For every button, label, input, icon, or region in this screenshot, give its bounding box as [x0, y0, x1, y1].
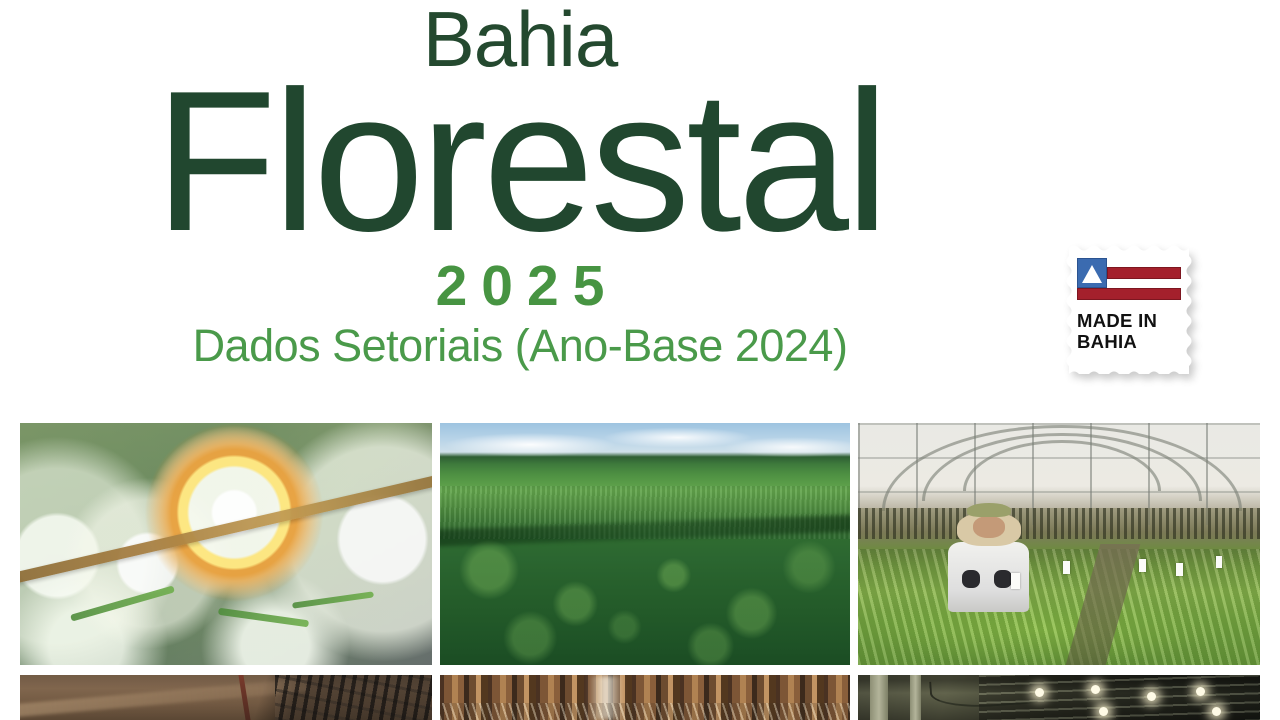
worker-glove [962, 570, 981, 587]
photo-earthworks [20, 675, 432, 720]
stamp-text: MADE IN BAHIA [1077, 311, 1183, 352]
ceiling-light [1091, 685, 1100, 694]
cover-header: Bahia Florestal 2025 Dados Setoriais (An… [0, 0, 1280, 423]
photo-blossoms [20, 423, 432, 665]
photo-industrial-interior [858, 675, 1260, 720]
title-block: Bahia Florestal 2025 Dados Setoriais (An… [0, 0, 1040, 368]
seedling-beds [858, 549, 1260, 665]
forest-floor [440, 703, 850, 720]
stamp-content: MADE IN BAHIA [1077, 258, 1183, 352]
worker-hat [967, 503, 1011, 517]
photo-blossoms-image [20, 423, 432, 665]
support-column [870, 675, 888, 720]
flag-stripe-upper [1107, 267, 1181, 279]
flag-canton [1077, 258, 1107, 288]
cover-photo-grid [20, 423, 1260, 720]
greenhouse-back-wall [858, 508, 1260, 539]
seedling-tag [1011, 573, 1020, 589]
ceiling-light [1099, 707, 1108, 716]
worker-glove [994, 570, 1013, 587]
ceiling-light [1196, 687, 1205, 696]
photo-tree-trunks [440, 675, 850, 720]
photo-aerial-forest [440, 423, 850, 665]
support-column [910, 675, 921, 720]
stamp-line-1: MADE IN [1077, 311, 1183, 332]
flag-triangle-icon [1082, 265, 1102, 283]
ceiling-light [1035, 688, 1044, 697]
seedling-tag [1063, 561, 1070, 574]
native-canopy [440, 529, 850, 665]
stamp-line-2: BAHIA [1077, 332, 1183, 353]
worker-face [973, 516, 1005, 538]
seedling-tag [1216, 556, 1222, 568]
seedling-tag [1176, 563, 1183, 576]
made-in-bahia-badge: MADE IN BAHIA [1061, 236, 1201, 379]
seedling-tag [1139, 559, 1146, 572]
cover-subtitle: Dados Setoriais (Ano-Base 2024) [0, 315, 1040, 368]
page-title: Florestal [0, 76, 1040, 244]
industrial-structure [275, 675, 432, 720]
flag-stripe-lower [1077, 288, 1181, 300]
photo-nursery [858, 423, 1260, 665]
nursery-worker [946, 503, 1030, 612]
bahia-flag-icon [1077, 258, 1181, 302]
